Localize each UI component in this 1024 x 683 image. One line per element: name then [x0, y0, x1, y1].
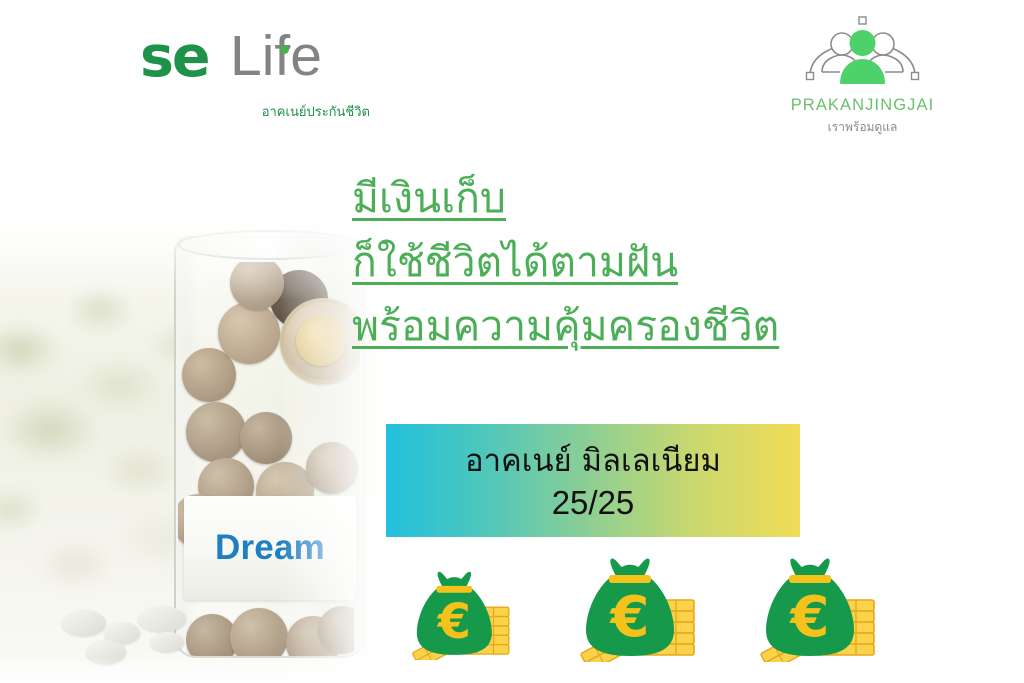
- coin-jar-photo: Dream: [0, 170, 400, 683]
- product-plan-code: 25/25: [552, 483, 635, 523]
- product-name-th: อาคเนย์ มิลเลเนียม: [465, 439, 721, 483]
- money-bag-euro-coins-icon: €: [758, 554, 880, 662]
- money-bag-icon-row: €: [400, 552, 960, 677]
- svg-text:€: €: [789, 585, 830, 650]
- headline-line-3: พร้อมความคุ้มครองชีวิต: [352, 294, 952, 358]
- product-name-banner: อาคเนย์ มิลเลเนียม 25/25: [386, 424, 800, 537]
- prakanjingjai-tagline: เราพร้อมดูแล: [775, 118, 950, 137]
- headline-line-1: มีเงินเก็บ: [352, 166, 952, 230]
- poster-canvas: Dream se Life อาคเนย: [0, 0, 1024, 683]
- three-people-arc-icon: [800, 14, 925, 90]
- headline-block: มีเงินเก็บ ก็ใช้ชีวิตได้ตามฝัน พร้อมความ…: [352, 166, 952, 358]
- money-bag-euro-coins-icon: €: [578, 554, 700, 662]
- svg-text:€: €: [609, 585, 650, 650]
- svg-text:€: €: [437, 595, 471, 650]
- money-bag-euro-coins-icon: €: [408, 568, 516, 660]
- se-logo-mark: se: [140, 28, 209, 86]
- prakanjingjai-name: PRAKANJINGJAI: [775, 96, 950, 115]
- se-logo-dot-icon: [280, 45, 289, 54]
- headline-line-2: ก็ใช้ชีวิตได้ตามฝัน: [352, 230, 952, 294]
- se-logo-subtitle: อาคเนย์ประกันชีวิต: [240, 101, 370, 122]
- se-logo-wordmark: Life: [230, 27, 322, 85]
- prakanjingjai-logo: PRAKANJINGJAI เราพร้อมดูแล: [775, 14, 950, 134]
- se-life-logo: se Life อาคเนย์ประกันชีวิต: [140, 28, 370, 128]
- photo-fade-bottom: [0, 657, 400, 683]
